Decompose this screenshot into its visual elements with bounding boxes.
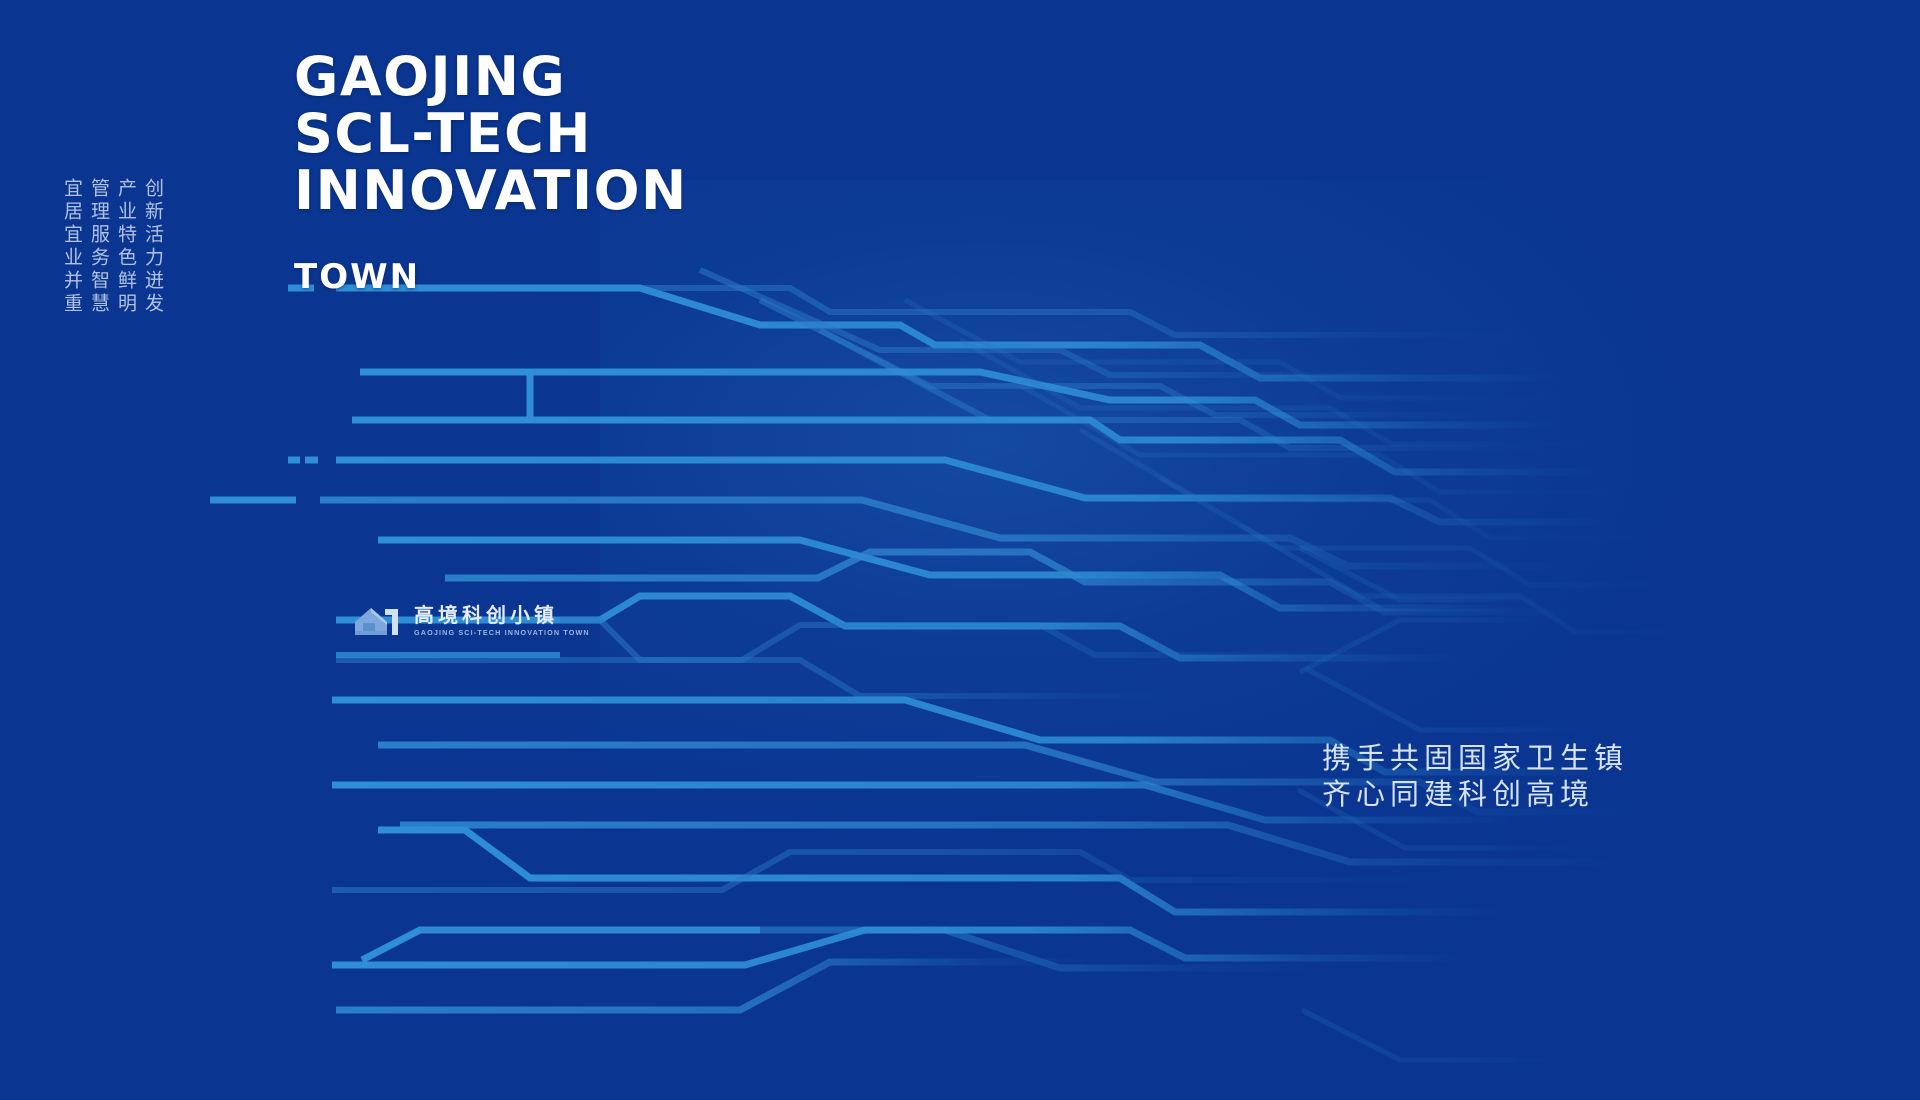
brand-logo-text: 高境科创小镇 GAOJING SCI-TECH INNOVATION TOWN — [414, 604, 590, 637]
brand-logo: 高境科创小镇 GAOJING SCI-TECH INNOVATION TOWN — [352, 601, 590, 641]
circuit-line-artwork — [0, 0, 1920, 1100]
page-title: GAOJING SCL-TECH INNOVATION — [294, 50, 688, 218]
brand-name-en: GAOJING SCI-TECH INNOVATION TOWN — [414, 629, 590, 638]
headline-subword-town: TOWN — [294, 260, 420, 294]
bottom-right-slogan: 携手共固国家卫生镇 齐心同建科创高境 — [1322, 740, 1628, 812]
bottom-right-slogan-line-2: 齐心同建科创高境 — [1322, 776, 1628, 812]
brand-name-cn: 高境科创小镇 — [414, 604, 590, 626]
vertical-slogan-column-4: 宜居宜业并重 — [62, 178, 81, 316]
headline-line-3: INNOVATION — [294, 164, 688, 218]
bottom-right-slogan-line-1: 携手共固国家卫生镇 — [1322, 740, 1628, 776]
headline-line-1: GAOJING — [294, 50, 688, 104]
background-glow — [600, 180, 1700, 830]
vertical-slogan-column-1: 创新活力迸发 — [143, 178, 162, 316]
headline-line-2: SCL-TECH — [294, 107, 688, 161]
vertical-slogan-column-2: 产业特色鲜明 — [116, 178, 135, 316]
poster-canvas: 创新活力迸发 产业特色鲜明 管理服务智慧 宜居宜业并重 GAOJING SCL-… — [0, 0, 1920, 1100]
vertical-slogan-column-3: 管理服务智慧 — [89, 178, 108, 316]
vertical-slogan: 创新活力迸发 产业特色鲜明 管理服务智慧 宜居宜业并重 — [62, 178, 162, 316]
house-building-icon — [352, 601, 404, 641]
